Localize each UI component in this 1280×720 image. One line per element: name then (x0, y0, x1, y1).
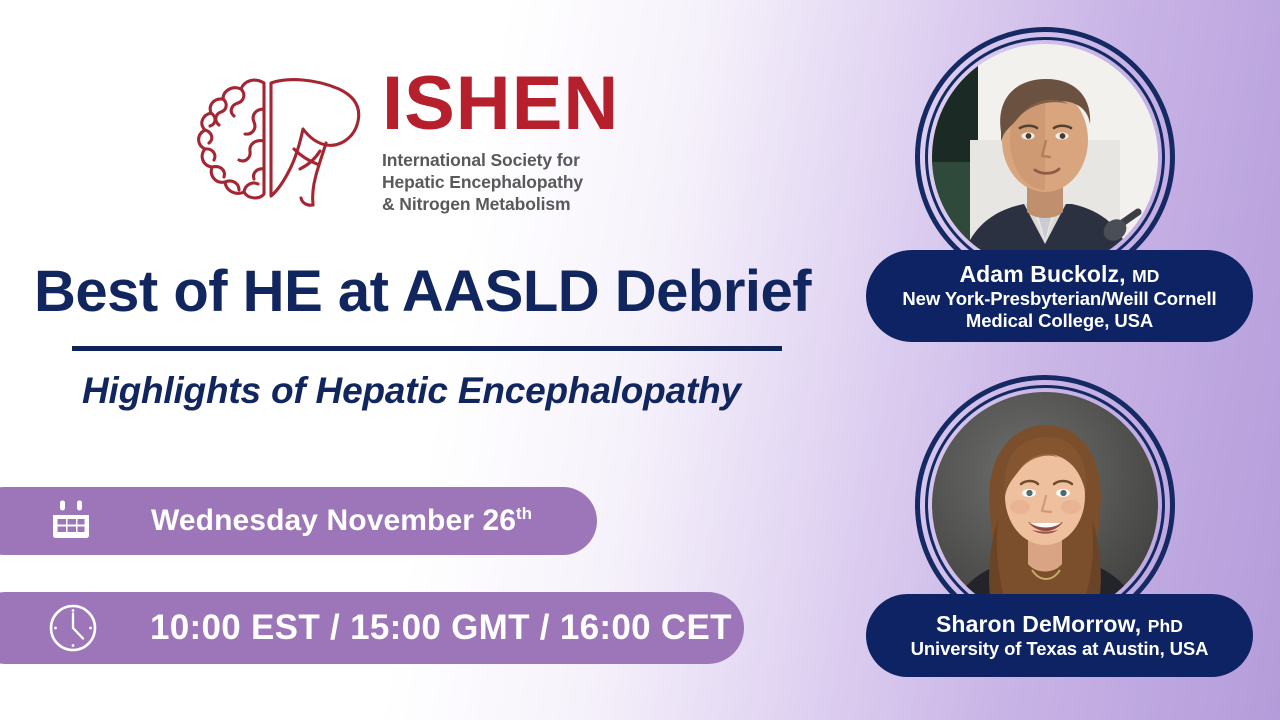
sharon-demorrow-photo (932, 392, 1158, 618)
adam-buckolz-photo (932, 44, 1158, 270)
time-badge: 10:00 EST / 15:00 GMT / 16:00 CET (0, 592, 744, 664)
speaker-fullname: Sharon DeMorrow, (936, 611, 1141, 637)
speaker-affiliation-line-2: Medical College, USA (886, 310, 1233, 331)
tagline-line-3: & Nitrogen Metabolism (382, 193, 619, 215)
speaker-name-card: Adam Buckolz, MD New York-Presbyterian/W… (866, 250, 1253, 342)
date-label: Wednesday November 26th (151, 504, 532, 538)
ishen-wordmark-block: ISHEN International Society for Hepatic … (382, 62, 619, 215)
date-text: Wednesday November 26 (151, 504, 516, 537)
speaker-fullname: Adam Buckolz, (959, 261, 1125, 287)
calendar-icon (48, 498, 94, 544)
speaker-degree: PhD (1148, 616, 1183, 636)
tagline-line-2: Hepatic Encephalopathy (382, 171, 619, 193)
speaker-name: Sharon DeMorrow, PhD (886, 611, 1233, 638)
clock-icon (46, 601, 100, 655)
ishen-tagline: International Society for Hepatic Enceph… (382, 149, 619, 215)
speaker-degree: MD (1132, 266, 1159, 286)
time-label: 10:00 EST / 15:00 GMT / 16:00 CET (150, 608, 732, 648)
page-title: Best of HE at AASLD Debrief (34, 258, 854, 325)
ishen-logo: ISHEN International Society for Hepatic … (176, 62, 619, 215)
speaker-card-adam-buckolz: Adam Buckolz, MD New York-Presbyterian/W… (915, 27, 1175, 287)
speaker-affiliation-line-1: University of Texas at Austin, USA (886, 638, 1233, 659)
date-ordinal: th (516, 504, 532, 523)
speaker-name: Adam Buckolz, MD (886, 261, 1233, 288)
webinar-promo-poster: ISHEN International Society for Hepatic … (0, 0, 1280, 720)
ishen-wordmark: ISHEN (382, 68, 619, 140)
speaker-card-sharon-demorrow: Sharon DeMorrow, PhD University of Texas… (915, 375, 1175, 635)
brain-liver-icon (176, 65, 366, 213)
speaker-affiliation-line-1: New York-Presbyterian/Weill Cornell (886, 288, 1233, 309)
tagline-line-1: International Society for (382, 149, 619, 171)
date-badge: Wednesday November 26th (0, 487, 597, 555)
page-subtitle: Highlights of Hepatic Encephalopathy (82, 370, 802, 412)
speaker-name-card: Sharon DeMorrow, PhD University of Texas… (866, 594, 1253, 677)
portrait-frame (915, 27, 1175, 287)
title-divider (72, 346, 782, 351)
